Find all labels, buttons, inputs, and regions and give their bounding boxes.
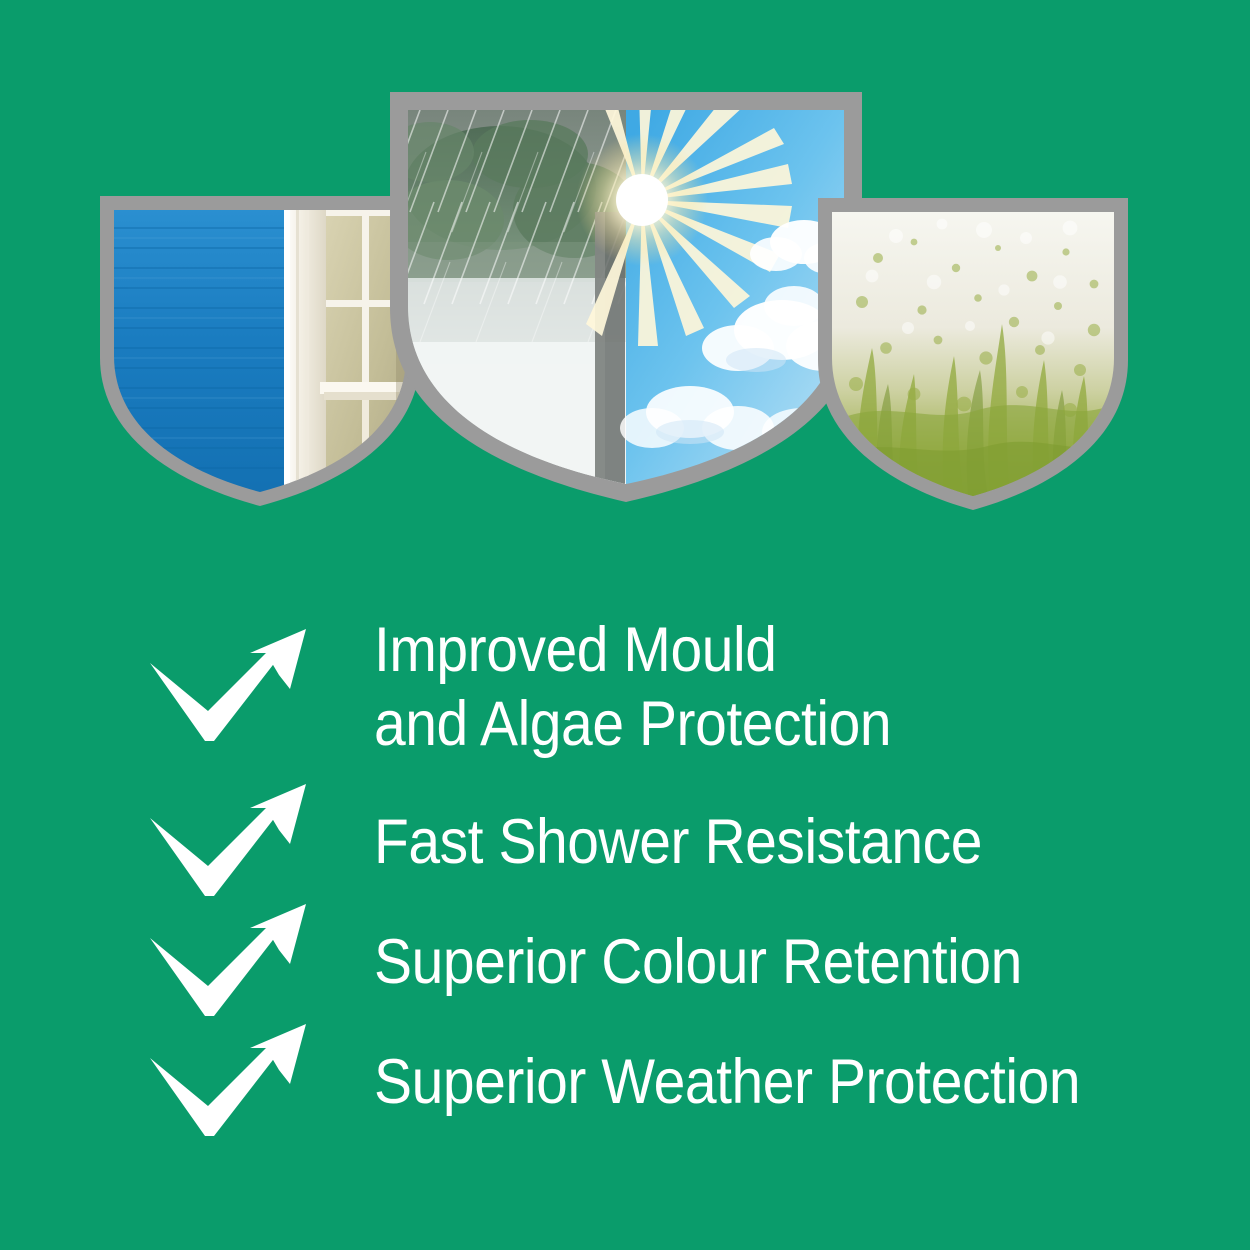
shield-group — [0, 0, 1250, 540]
shield-rain-and-sun — [390, 92, 862, 502]
check-arrow-icon — [148, 782, 316, 904]
check-arrow-icon — [148, 1022, 316, 1144]
list-item: Superior Weather Protection — [148, 1022, 1154, 1144]
list-item-label: Fast Shower Resistance — [374, 806, 982, 880]
list-item: Fast Shower Resistance — [148, 782, 1046, 904]
shield-algae-wall — [818, 198, 1128, 510]
list-item-label: Superior Colour Retention — [374, 926, 1022, 1000]
promo-poster: Improved Mould and Algae Protection Fast… — [0, 0, 1250, 1250]
check-arrow-icon — [148, 902, 316, 1024]
check-arrow-icon — [148, 627, 316, 749]
list-item-label: Improved Mould and Algae Protection — [374, 614, 891, 761]
list-item-label: Superior Weather Protection — [374, 1046, 1080, 1120]
list-item: Improved Mould and Algae Protection — [148, 614, 945, 761]
shield-masonry-window — [100, 196, 420, 506]
list-item: Superior Colour Retention — [148, 902, 1090, 1024]
